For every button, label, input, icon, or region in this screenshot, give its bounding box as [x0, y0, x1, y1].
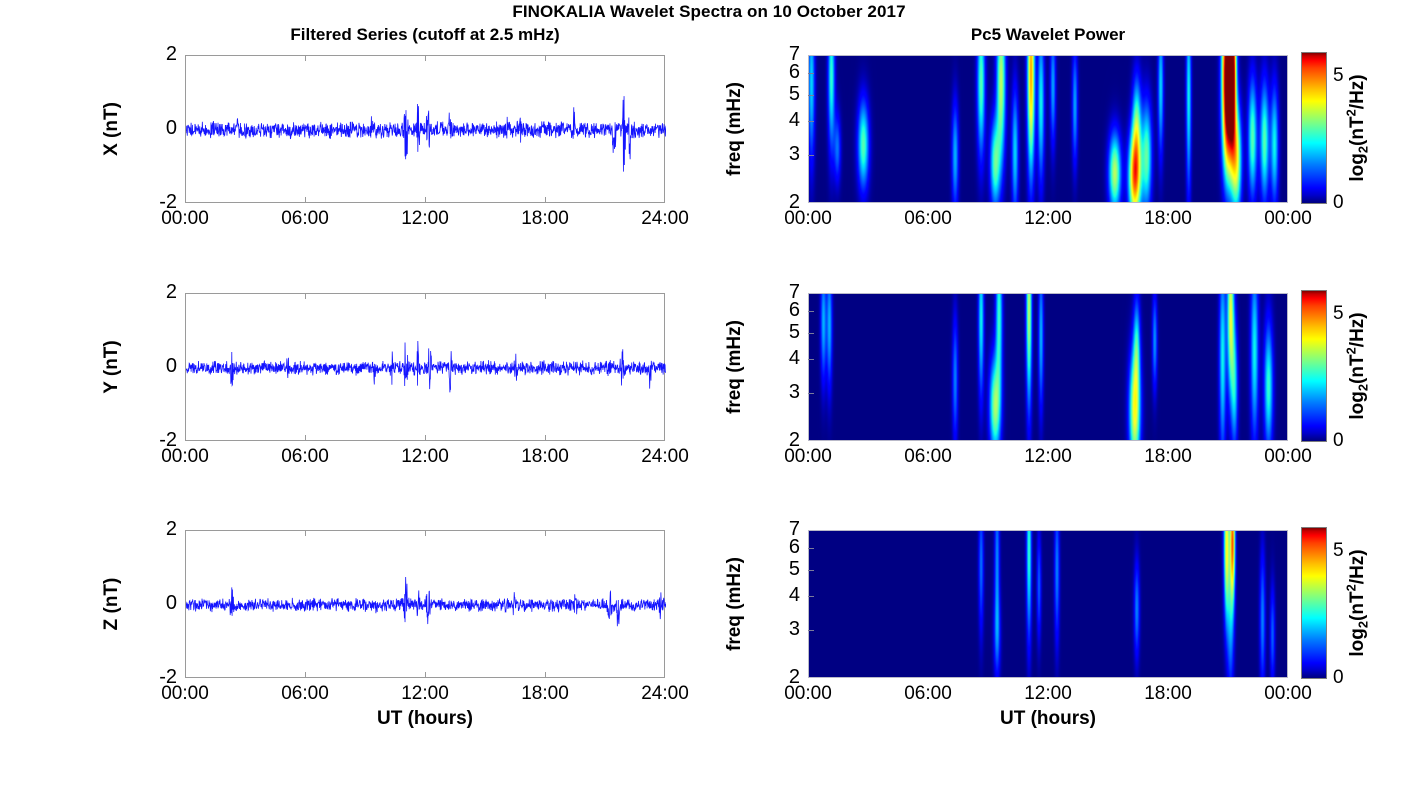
freq-tick: [808, 155, 814, 156]
colorbar-label-X: log2(nT2/Hz): [1343, 74, 1370, 181]
xtick-label: 18:00: [1126, 209, 1210, 228]
ytick-label: 0: [133, 356, 177, 376]
timeseries-ylabel-X: X (nT): [101, 102, 123, 156]
colorbar-Z: [1301, 527, 1327, 679]
freq-tick: [808, 393, 814, 394]
xtick-top: [545, 55, 546, 61]
ytick-label: -2: [133, 667, 177, 687]
xtick-label: 12:00: [383, 447, 467, 466]
spectrogram-ylabel-Y: freq (mHz): [724, 320, 746, 414]
freq-tick-label: 2: [768, 667, 800, 687]
left-column-title: Filtered Series (cutoff at 2.5 mHz): [185, 25, 665, 45]
freq-tick-label: 5: [768, 559, 800, 579]
xtick-label: 18:00: [1126, 684, 1210, 703]
xtick-top: [305, 55, 306, 61]
xtick-label: 06:00: [263, 209, 347, 228]
freq-tick-label: 4: [768, 585, 800, 605]
freq-tick: [808, 121, 814, 122]
freq-tick-label: 5: [768, 84, 800, 104]
xtick-label: 00:00: [1246, 684, 1330, 703]
ytick-label: -2: [133, 430, 177, 450]
spectrogram-axes-X: [808, 55, 1288, 203]
colorbar-tick-0: 0: [1333, 668, 1344, 687]
xtick-bottom: [305, 672, 306, 678]
spectrogram-ylabel-X: freq (mHz): [724, 82, 746, 176]
xtick-bottom: [305, 435, 306, 441]
xtick-label: 24:00: [623, 209, 707, 228]
xtick-top: [305, 293, 306, 299]
xtick-label: 12:00: [1006, 209, 1090, 228]
xtick-bottom: [545, 672, 546, 678]
xtick-label: 18:00: [503, 684, 587, 703]
spectrogram-image-X: [809, 56, 1288, 203]
figure-canvas: FINOKALIA Wavelet Spectra on 10 October …: [0, 0, 1418, 788]
figure-suptitle: FINOKALIA Wavelet Spectra on 10 October …: [0, 2, 1418, 22]
freq-tick-label: 6: [768, 300, 800, 320]
spectrogram-image-Z: [809, 531, 1288, 678]
xtick-label: 18:00: [503, 209, 587, 228]
timeseries-ylabel-Z: Z (nT): [101, 578, 123, 631]
xtick-label: 12:00: [383, 209, 467, 228]
timeseries-ylabel-Y: Y (nT): [101, 340, 123, 393]
freq-tick-label: 3: [768, 382, 800, 402]
xtick-top: [425, 293, 426, 299]
freq-tick: [808, 630, 814, 631]
xtick-bottom: [425, 197, 426, 203]
colorbar-Y: [1301, 290, 1327, 442]
xtick-label: 06:00: [886, 447, 970, 466]
ytick-label: 2: [133, 519, 177, 539]
spectrogram-axes-Y: [808, 293, 1288, 441]
xtick-bottom: [425, 672, 426, 678]
right-column-title: Pc5 Wavelet Power: [808, 25, 1288, 45]
spectrogram-axes-Z: [808, 530, 1288, 678]
spectrogram-image-Y: [809, 294, 1288, 441]
xtick-bottom: [545, 197, 546, 203]
freq-tick: [808, 548, 814, 549]
timeseries-trace-Y: [186, 294, 666, 442]
freq-tick-label: 4: [768, 348, 800, 368]
xtick-top: [545, 293, 546, 299]
colorbar-label-Y: log2(nT2/Hz): [1343, 312, 1370, 419]
right-xaxis-label: UT (hours): [808, 708, 1288, 730]
colorbar-label-Z: log2(nT2/Hz): [1343, 549, 1370, 656]
ytick-label: 2: [133, 282, 177, 302]
freq-tick-label: 4: [768, 110, 800, 130]
freq-tick: [808, 311, 814, 312]
xtick-label: 12:00: [383, 684, 467, 703]
colorbar-tick-0: 0: [1333, 193, 1344, 212]
timeseries-axes-X: [185, 55, 665, 203]
freq-tick-label: 2: [768, 192, 800, 212]
xtick-top: [425, 530, 426, 536]
timeseries-axes-Z: [185, 530, 665, 678]
timeseries-axes-Y: [185, 293, 665, 441]
xtick-bottom: [305, 197, 306, 203]
xtick-label: 24:00: [623, 447, 707, 466]
xtick-label: 00:00: [1246, 209, 1330, 228]
freq-tick: [808, 333, 814, 334]
xtick-bottom: [425, 435, 426, 441]
spectrogram-ylabel-Z: freq (mHz): [724, 557, 746, 651]
xtick-label: 12:00: [1006, 447, 1090, 466]
timeseries-trace-X: [186, 56, 666, 204]
xtick-label: 18:00: [1126, 447, 1210, 466]
xtick-label: 06:00: [263, 684, 347, 703]
freq-tick-label: 3: [768, 144, 800, 164]
colorbar-X: [1301, 52, 1327, 204]
xtick-label: 18:00: [503, 447, 587, 466]
xtick-label: 06:00: [886, 684, 970, 703]
colorbar-tick-5: 5: [1333, 541, 1344, 560]
xtick-bottom: [545, 435, 546, 441]
freq-tick-label: 6: [768, 62, 800, 82]
freq-tick-label: 5: [768, 322, 800, 342]
ytick-label: 0: [133, 118, 177, 138]
freq-tick: [808, 359, 814, 360]
xtick-top: [425, 55, 426, 61]
freq-tick-label: 2: [768, 430, 800, 450]
freq-tick: [808, 570, 814, 571]
xtick-top: [545, 530, 546, 536]
freq-tick: [808, 95, 814, 96]
freq-tick-label: 6: [768, 537, 800, 557]
xtick-label: 00:00: [1246, 447, 1330, 466]
colorbar-tick-0: 0: [1333, 431, 1344, 450]
ytick-label: 2: [133, 44, 177, 64]
colorbar-tick-5: 5: [1333, 66, 1344, 85]
xtick-label: 06:00: [263, 447, 347, 466]
freq-tick-label: 3: [768, 619, 800, 639]
left-xaxis-label: UT (hours): [185, 708, 665, 730]
colorbar-tick-5: 5: [1333, 304, 1344, 323]
xtick-label: 06:00: [886, 209, 970, 228]
xtick-top: [305, 530, 306, 536]
freq-tick: [808, 596, 814, 597]
xtick-label: 12:00: [1006, 684, 1090, 703]
ytick-label: 0: [133, 593, 177, 613]
ytick-label: -2: [133, 192, 177, 212]
freq-tick: [808, 73, 814, 74]
xtick-label: 24:00: [623, 684, 707, 703]
timeseries-trace-Z: [186, 531, 666, 679]
